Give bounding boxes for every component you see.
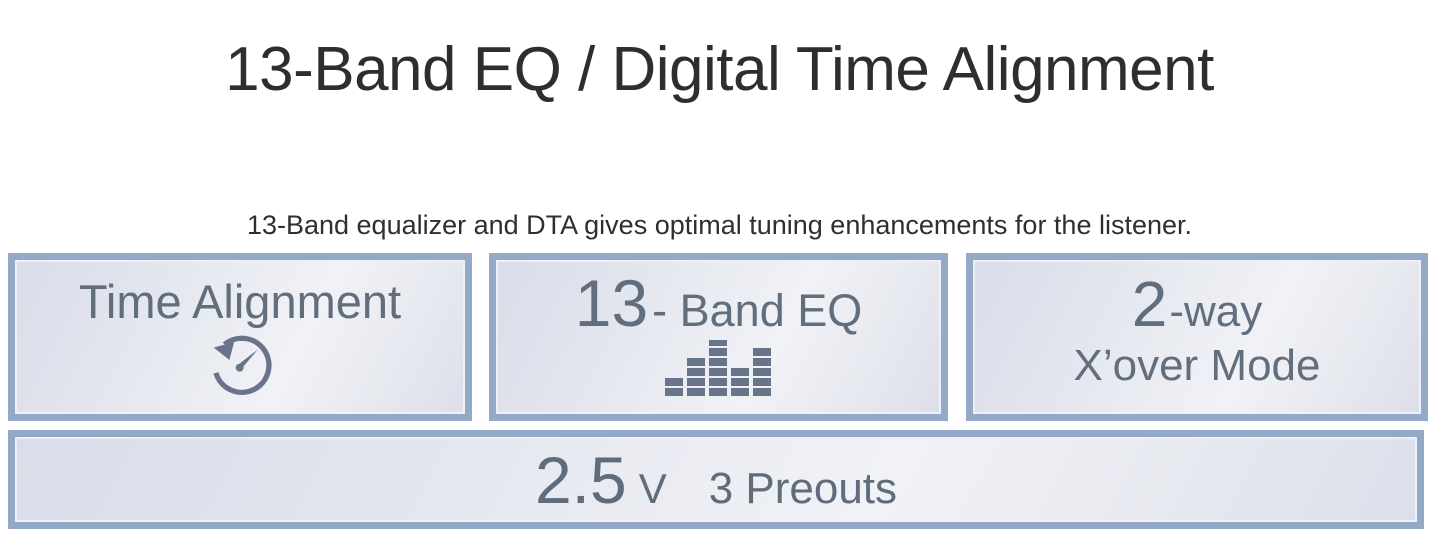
xover-number: 2 — [1132, 272, 1168, 336]
band-eq-number: 13 — [575, 270, 648, 336]
feature-card-band-eq[interactable]: 13 - Band EQ — [489, 253, 948, 421]
preout-voltage-unit: V — [639, 468, 667, 510]
xover-headline: 2 -way — [1132, 272, 1263, 336]
page-subtitle: 13-Band equalizer and DTA gives optimal … — [0, 209, 1439, 241]
preout-voltage-value: 2.5 — [535, 447, 627, 513]
xover-suffix: -way — [1169, 290, 1262, 334]
preouts-line: 2.5 V 3 Preouts — [15, 447, 1417, 513]
preout-count-label: 3 Preouts — [709, 467, 897, 511]
card-title-band-eq: 13 - Band EQ — [575, 270, 863, 336]
page-title: 13-Band EQ / Digital Time Alignment — [0, 36, 1439, 104]
xover-mode-label: X’over Mode — [1073, 344, 1320, 388]
band-eq-label: - Band EQ — [652, 288, 862, 333]
equalizer-bars-icon — [665, 340, 773, 398]
feature-card-preouts[interactable]: 2.5 V 3 Preouts — [8, 430, 1424, 529]
clock-gauge-icon — [207, 333, 273, 399]
feature-card-time-alignment[interactable]: Time Alignment — [8, 253, 472, 421]
feature-card-xover-mode[interactable]: 2 -way X’over Mode — [966, 253, 1428, 421]
card-title-time-alignment: Time Alignment — [79, 278, 401, 325]
